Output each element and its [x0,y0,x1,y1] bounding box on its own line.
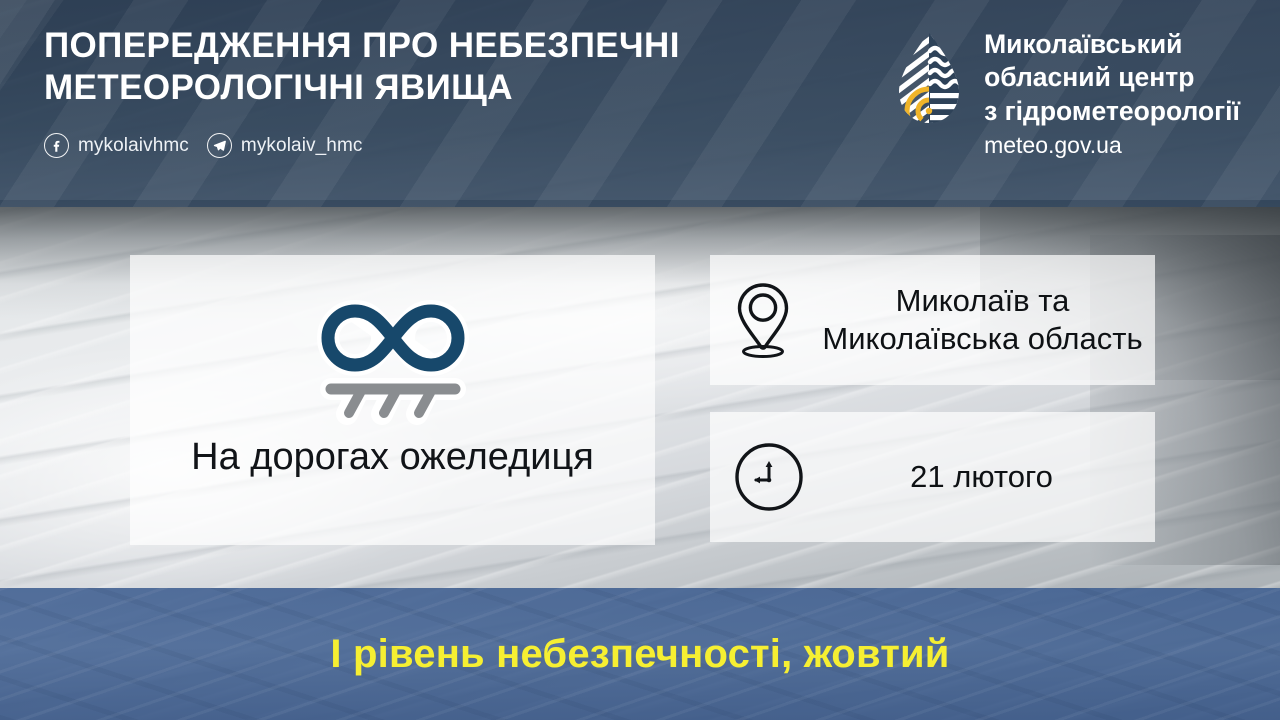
header-left-group: ПОПЕРЕДЖЕННЯ ПРО НЕБЕЗПЕЧНІ МЕТЕОРОЛОГІЧ… [0,0,680,158]
danger-level-label: І рівень небезпечності, жовтий [330,632,949,677]
footer-band: І рівень небезпечності, жовтий [0,588,1280,720]
facebook-icon [44,133,69,158]
brand-logo-block[interactable]: Миколаївський обласний центр з гідромете… [893,0,1280,161]
area-panel: Миколаїв та Миколаївська область [710,255,1155,385]
area-line-2: Миколаївська область [822,320,1143,358]
page-title-line2: МЕТЕОРОЛОГІЧНІ ЯВИЩА [44,67,680,109]
brand-line-3: з гідрометеорології [984,95,1240,128]
telegram-handle: mykolaiv_hmc [241,135,363,157]
area-label: Миколаїв та Миколаївська область [822,282,1155,359]
weather-warning-poster: ПОПЕРЕДЖЕННЯ ПРО НЕБЕЗПЕЧНІ МЕТЕОРОЛОГІЧ… [0,0,1280,720]
brand-text: Миколаївський обласний центр з гідромете… [984,28,1240,161]
telegram-icon [207,133,232,158]
black-ice-road-icon [295,281,491,431]
clock-icon [732,440,806,514]
droplet-hydrometeorology-logo [893,31,965,127]
social-links: mykolaivhmc mykolaiv_hmc [44,133,680,158]
page-title-line1: ПОПЕРЕДЖЕННЯ ПРО НЕБЕЗПЕЧНІ [44,26,680,65]
facebook-handle: mykolaivhmc [78,135,189,157]
social-link-facebook[interactable]: mykolaivhmc [44,133,189,158]
header-band: ПОПЕРЕДЖЕННЯ ПРО НЕБЕЗПЕЧНІ МЕТЕОРОЛОГІЧ… [0,0,1280,207]
area-line-1: Миколаїв та [896,283,1070,318]
hazard-panel: На дорогах ожеледиця [130,255,655,545]
brand-website-url[interactable]: meteo.gov.ua [984,131,1240,161]
hazard-label: На дорогах ожеледиця [191,437,594,479]
brand-line-2: обласний центр [984,61,1240,94]
date-label: 21 лютого [834,459,1155,495]
social-link-telegram[interactable]: mykolaiv_hmc [207,133,363,158]
location-pin-icon [732,281,794,359]
date-panel: 21 лютого [710,412,1155,542]
brand-line-1: Миколаївський [984,28,1240,61]
page-title: ПОПЕРЕДЖЕННЯ ПРО НЕБЕЗПЕЧНІ МЕТЕОРОЛОГІЧ… [44,25,680,108]
